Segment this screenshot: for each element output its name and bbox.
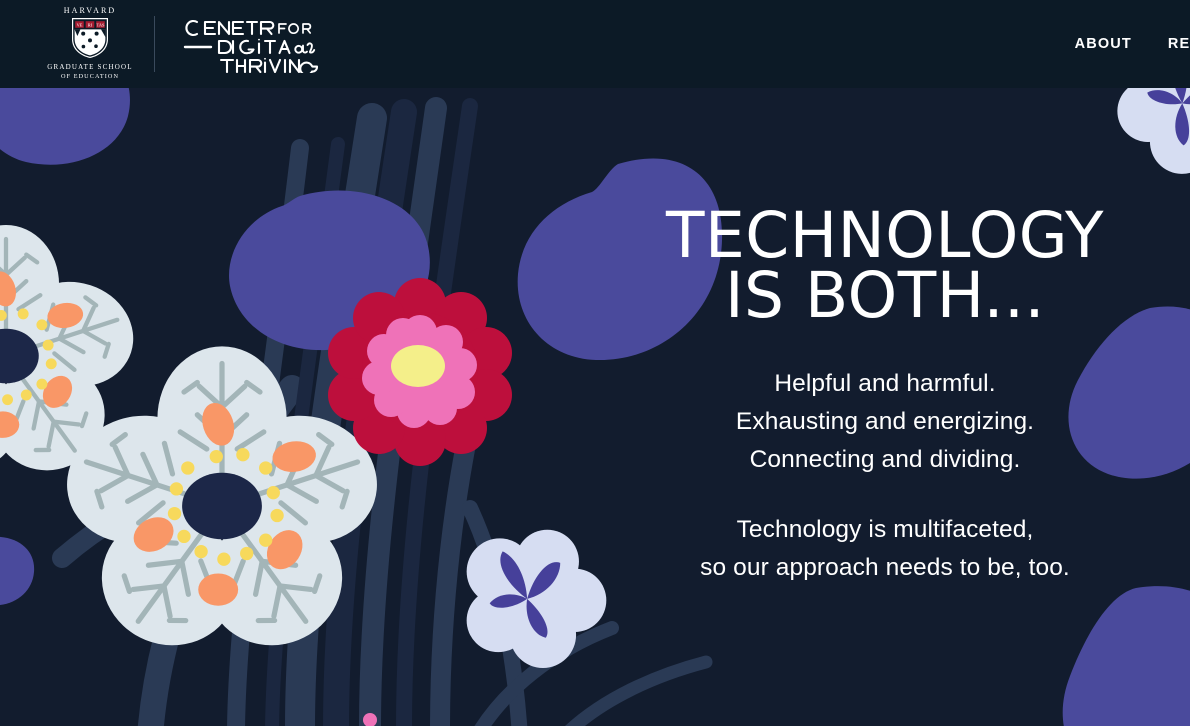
page-root: HARVARD VE RI TAS (0, 0, 1190, 726)
hero-section: TECHNOLOGY IS BOTH... Helpful and harmfu… (0, 88, 1190, 726)
hero-p2-line2: so our approach needs to be, too. (700, 554, 1070, 581)
hero-p2-line1: Technology is multifaceted, (737, 516, 1034, 543)
hero-p1-line1: Helpful and harmful. (774, 370, 995, 397)
nav-item-research[interactable]: RESE (1168, 0, 1190, 88)
cdt-logo[interactable] (183, 15, 323, 73)
hero-p1-line2: Exhausting and energizing. (736, 408, 1034, 435)
svg-text:RI: RI (88, 23, 93, 28)
hero-paragraph-1: Helpful and harmful. Exhausting and ener… (595, 365, 1175, 480)
svg-text:VE: VE (77, 23, 83, 28)
main-navigation[interactable]: ABOUT RESE (1075, 0, 1190, 88)
hero-p1-line3: Connecting and dividing. (750, 446, 1021, 473)
site-header: HARVARD VE RI TAS (0, 0, 1190, 88)
brand-divider (154, 16, 155, 72)
nav-item-about[interactable]: ABOUT (1075, 0, 1132, 88)
svg-text:TAS: TAS (97, 23, 106, 28)
harvard-school-name: GRADUATE SCHOOL OF EDUCATION (47, 62, 132, 81)
hero-paragraph-2: Technology is multifaceted, so our appro… (595, 511, 1175, 587)
hero-copy: TECHNOLOGY IS BOTH... Helpful and harmfu… (595, 206, 1175, 587)
harvard-shield-icon: VE RI TAS (71, 17, 109, 59)
hero-title: TECHNOLOGY IS BOTH... (595, 206, 1175, 327)
hero-body: Helpful and harmful. Exhausting and ener… (595, 365, 1175, 587)
harvard-gse-logo[interactable]: HARVARD VE RI TAS (40, 6, 140, 81)
hero-title-line2: IS BOTH... (595, 266, 1175, 326)
brand-lockup[interactable]: HARVARD VE RI TAS (0, 6, 323, 81)
harvard-wordmark: HARVARD (64, 6, 117, 15)
